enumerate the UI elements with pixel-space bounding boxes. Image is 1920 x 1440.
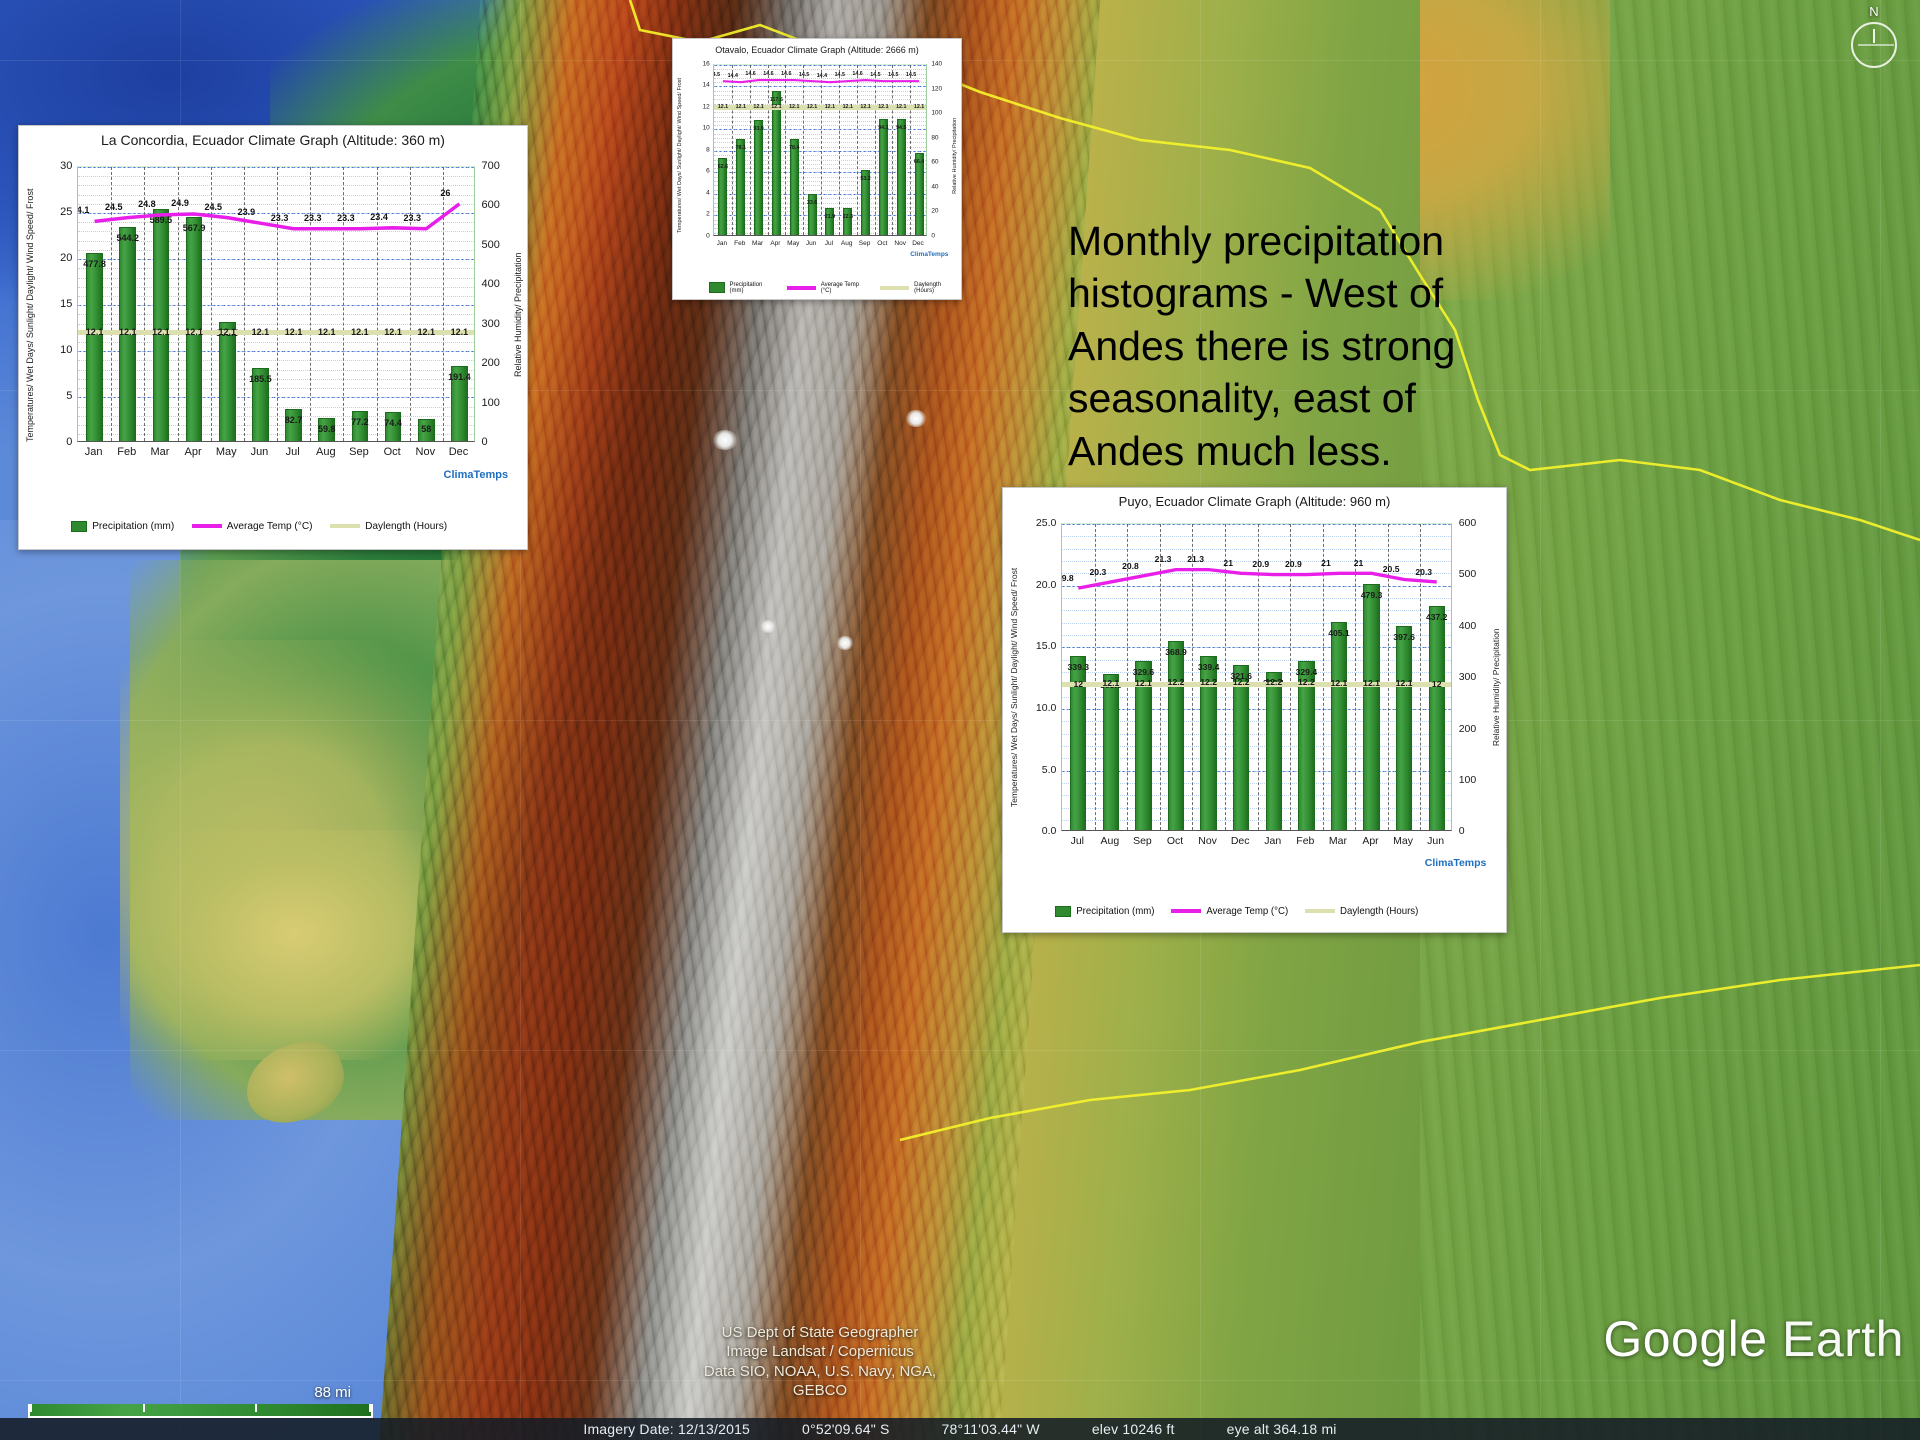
temperature-value-label: 14.5 <box>835 72 845 78</box>
legend-swatch-temp-line-icon <box>787 286 816 290</box>
x-tick-label: Feb <box>731 240 749 247</box>
x-tick-label: Dec <box>442 446 475 458</box>
temperature-value-label: 24.5 <box>105 202 123 212</box>
legend-swatch-daylength-line-icon <box>880 286 909 290</box>
annotation-text: Monthly precipitation histograms - West … <box>1068 215 1498 477</box>
x-tick-label: Aug <box>838 240 856 247</box>
temperature-value-label: 21 <box>1321 558 1331 568</box>
y-axis-label-left: Temperatures/ Wet Days/ Sunlight/ Daylig… <box>1009 523 1019 852</box>
x-tick-label: Nov <box>409 446 442 458</box>
y-tick-label: 20.0 <box>1036 579 1056 591</box>
y-tick-label: 15 <box>60 298 72 310</box>
temperature-value-label: 14.6 <box>852 71 862 77</box>
temperature-value-label: 23.9 <box>238 207 256 217</box>
y2-tick-label: 100 <box>481 397 499 409</box>
temperature-value-label: 19.8 <box>1061 573 1074 583</box>
y2-tick-label: 300 <box>1459 671 1477 683</box>
x-tick-label: Jul <box>820 240 838 247</box>
y2-tick-label: 60 <box>931 159 938 166</box>
x-tick-label: Nov <box>1191 835 1224 847</box>
legend-swatch-bar-icon <box>1055 906 1071 917</box>
y-tick-label: 20 <box>60 252 72 264</box>
compass-widget[interactable]: N <box>1846 4 1902 74</box>
y-axis-ticks-left: 0246810121416 <box>685 64 710 236</box>
x-tick-label: Jun <box>802 240 820 247</box>
legend-label: Precipitation (mm) <box>730 282 777 294</box>
temperature-value-label: 14.5 <box>906 72 916 78</box>
legend-item-daylength[interactable]: Daylength (Hours) <box>880 282 961 294</box>
climatemps-brand: ClimaTemps <box>444 469 509 481</box>
legend-label: Precipitation (mm) <box>92 521 174 532</box>
y-axis-ticks-right: 0100200300400500600700 <box>481 166 513 442</box>
legend-label: Average Temp (°C) <box>821 282 870 294</box>
y2-tick-label: 100 <box>931 110 942 117</box>
legend-label: Daylength (Hours) <box>365 521 447 532</box>
y2-tick-label: 500 <box>481 239 499 251</box>
x-tick-label: Mar <box>749 240 767 247</box>
temperature-value-label: 23.3 <box>403 213 421 223</box>
chart-title: Puyo, Ecuador Climate Graph (Altitude: 9… <box>1003 488 1506 509</box>
y-tick-label: 25 <box>60 206 72 218</box>
attribution-line-3: Data SIO, NOAA, U.S. Navy, NGA, GEBCO <box>680 1362 960 1400</box>
y-axis-ticks-left: 0.05.010.015.020.025.0 <box>1020 523 1056 831</box>
compass-ring-icon <box>1851 22 1897 68</box>
attribution-line-1: US Dept of State Geographer <box>680 1323 960 1342</box>
temperature-value-label: 23.3 <box>337 213 355 223</box>
temperature-value-label: 21 <box>1223 558 1233 568</box>
temperature-value-label: 26 <box>440 188 450 198</box>
google-earth-logo: Google Earth <box>1603 1310 1904 1368</box>
x-tick-label: Jun <box>1419 835 1452 847</box>
status-elevation: elev 10246 ft <box>1092 1421 1175 1437</box>
temperature-value-label: 20.9 <box>1285 559 1302 569</box>
legend-label: Average Temp (°C) <box>227 521 313 532</box>
temperature-value-label: 14.5 <box>799 72 809 78</box>
y-tick-label: 16 <box>703 61 710 68</box>
attribution-line-2: Image Landsat / Copernicus <box>680 1342 960 1361</box>
y-tick-label: 12 <box>703 103 710 110</box>
y-tick-label: 5.0 <box>1042 764 1057 776</box>
x-tick-label: Jun <box>243 446 276 458</box>
plot-area: 62.678.193.9117.678.433.621.922.353.294.… <box>713 64 927 236</box>
temperature-value-label: 21.3 <box>1155 554 1172 564</box>
x-tick-label: Dec <box>909 240 927 247</box>
status-imagery-date: Imagery Date: 12/13/2015 <box>583 1421 750 1437</box>
scale-bar-label: 88 mi <box>314 1384 351 1401</box>
y-axis-label-right: Relative Humidity/ Precipitation <box>952 64 958 248</box>
x-axis-ticks: JulAugSepOctNovDecJanFebMarAprMayJun <box>1061 835 1452 847</box>
y-tick-label: 0 <box>706 232 710 239</box>
x-tick-label: Feb <box>1289 835 1322 847</box>
x-tick-label: Apr <box>177 446 210 458</box>
y-tick-label: 10.0 <box>1036 702 1056 714</box>
status-longitude: 78°11'03.44" W <box>942 1421 1040 1437</box>
legend-swatch-bar-icon <box>71 521 87 532</box>
legend-swatch-temp-line-icon <box>192 524 222 528</box>
y-tick-label: 6 <box>706 168 710 175</box>
x-tick-label: May <box>210 446 243 458</box>
y-axis-label-left: Temperatures/ Wet Days/ Sunlight/ Daylig… <box>677 64 683 248</box>
y2-tick-label: 0 <box>481 436 487 448</box>
y-tick-label: 4 <box>706 189 710 196</box>
temperature-value-label: 23.4 <box>370 212 388 222</box>
legend-swatch-daylength-line-icon <box>1305 909 1335 913</box>
chart-legend: Precipitation (mm)Average Temp (°C)Dayle… <box>709 282 961 294</box>
chart-title: La Concordia, Ecuador Climate Graph (Alt… <box>19 126 527 148</box>
y-axis-label-right: Relative Humidity/ Precipitation <box>1491 523 1501 852</box>
x-tick-label: Apr <box>766 240 784 247</box>
x-tick-label: Jan <box>77 446 110 458</box>
y2-tick-label: 120 <box>931 85 942 92</box>
y2-tick-label: 200 <box>1459 723 1477 735</box>
y-tick-label: 8 <box>706 146 710 153</box>
legend-item-average-temp[interactable]: Average Temp (°C) <box>1171 906 1288 917</box>
y2-tick-label: 400 <box>1459 620 1477 632</box>
map-scale-bar: 88 mi <box>28 1404 373 1418</box>
chart-legend: Precipitation (mm)Average Temp (°C)Dayle… <box>71 521 447 532</box>
y-axis-label-left: Temperatures/ Wet Days/ Sunlight/ Daylig… <box>25 166 35 464</box>
temperature-value-label: 20.3 <box>1415 567 1432 577</box>
temperature-value-label: 24.5 <box>204 202 222 212</box>
x-tick-label: Oct <box>1159 835 1192 847</box>
legend-label: Daylength (Hours) <box>914 282 961 294</box>
temperature-value-label: 24.9 <box>171 198 189 208</box>
x-tick-label: Oct <box>873 240 891 247</box>
y2-tick-label: 200 <box>481 357 499 369</box>
x-tick-label: Jul <box>276 446 309 458</box>
temperature-value-label: 23.3 <box>271 213 289 223</box>
x-tick-label: Feb <box>110 446 143 458</box>
legend-label: Precipitation (mm) <box>1076 906 1154 917</box>
y2-tick-label: 300 <box>481 318 499 330</box>
temperature-value-label: 20.9 <box>1252 559 1269 569</box>
temperature-value-label: 14.6 <box>763 71 773 77</box>
x-axis-ticks: JanFebMarAprMayJunJulAugSepOctNovDec <box>77 446 475 458</box>
x-tick-label: Oct <box>376 446 409 458</box>
legend-swatch-bar-icon <box>709 282 725 293</box>
temperature-value-label: 14.4 <box>817 73 827 79</box>
legend-swatch-temp-line-icon <box>1171 909 1201 913</box>
x-tick-label: Jul <box>1061 835 1094 847</box>
y-tick-label: 2 <box>706 211 710 218</box>
temperature-value-label: 14.5 <box>713 72 720 78</box>
y-axis-ticks-right: 0100200300400500600 <box>1459 523 1493 831</box>
x-tick-label: May <box>1387 835 1420 847</box>
y-axis-ticks-right: 020406080100120140 <box>931 64 953 236</box>
chart-title: Otavalo, Ecuador Climate Graph (Altitude… <box>673 39 961 55</box>
x-tick-label: May <box>784 240 802 247</box>
legend-item-daylength[interactable]: Daylength (Hours) <box>330 521 447 532</box>
x-tick-label: Sep <box>1126 835 1159 847</box>
plot-area: 339.3303.6329.6368.9339.4321.6308.1329.4… <box>1061 523 1452 831</box>
y2-tick-label: 600 <box>1459 517 1477 529</box>
y-tick-label: 25.0 <box>1036 517 1056 529</box>
legend-label: Daylength (Hours) <box>1340 906 1418 917</box>
temperature-value-label: 23.3 <box>304 213 322 223</box>
temperature-value-label: 21.3 <box>1187 554 1204 564</box>
y-tick-label: 0.0 <box>1042 825 1057 837</box>
temperature-value-label: 14.5 <box>888 72 898 78</box>
status-bar: Imagery Date: 12/13/2015 0°52'09.64" S 7… <box>0 1418 1920 1440</box>
temperature-value-label: 20.5 <box>1383 564 1400 574</box>
x-tick-label: Mar <box>143 446 176 458</box>
legend-item-precipitation[interactable]: Precipitation (mm) <box>71 521 174 532</box>
legend-swatch-daylength-line-icon <box>330 524 360 528</box>
y2-tick-label: 700 <box>481 160 499 172</box>
x-tick-label: Jan <box>713 240 731 247</box>
temperature-value-label: 20.3 <box>1090 567 1107 577</box>
y2-tick-label: 400 <box>481 278 499 290</box>
legend-item-precipitation[interactable]: Precipitation (mm) <box>1055 906 1154 917</box>
temperature-value-label: 20.8 <box>1122 561 1139 571</box>
map-attribution: US Dept of State Geographer Image Landsa… <box>680 1323 960 1400</box>
y-tick-label: 15.0 <box>1036 640 1056 652</box>
temperature-value-label: 24.1 <box>77 205 89 215</box>
y2-tick-label: 140 <box>931 61 942 68</box>
temperature-value-label: 14.4 <box>728 73 738 79</box>
y2-tick-label: 40 <box>931 183 938 190</box>
x-tick-label: Nov <box>891 240 909 247</box>
y-tick-label: 30 <box>60 160 72 172</box>
temperature-value-label: 14.6 <box>781 71 791 77</box>
y-tick-label: 0 <box>66 436 72 448</box>
y2-tick-label: 80 <box>931 134 938 141</box>
chart-card-la-concordia[interactable]: La Concordia, Ecuador Climate Graph (Alt… <box>18 125 528 550</box>
scale-bar-graphic <box>28 1404 373 1418</box>
y2-tick-label: 100 <box>1459 774 1477 786</box>
x-tick-label: Sep <box>856 240 874 247</box>
y2-tick-label: 0 <box>1459 825 1465 837</box>
legend-item-average-temp[interactable]: Average Temp (°C) <box>192 521 313 532</box>
y-tick-label: 5 <box>66 390 72 402</box>
x-tick-label: Jan <box>1256 835 1289 847</box>
logo-google-text: Google <box>1603 1311 1767 1367</box>
climatemps-brand: ClimaTemps <box>910 251 948 258</box>
status-latitude: 0°52'09.64" S <box>802 1421 889 1437</box>
temperature-value-label: 14.6 <box>745 71 755 77</box>
y-tick-label: 14 <box>703 82 710 89</box>
temperature-line-series <box>714 65 927 236</box>
x-tick-label: Mar <box>1322 835 1355 847</box>
legend-item-average-temp[interactable]: Average Temp (°C) <box>787 282 870 294</box>
temperature-value-label: 24.8 <box>138 199 156 209</box>
y-tick-label: 10 <box>60 344 72 356</box>
y-tick-label: 10 <box>703 125 710 132</box>
x-tick-label: Aug <box>309 446 342 458</box>
logo-earth-text: Earth <box>1768 1311 1904 1367</box>
y2-tick-label: 0 <box>931 232 935 239</box>
legend-item-daylength[interactable]: Daylength (Hours) <box>1305 906 1418 917</box>
climatemps-brand: ClimaTemps <box>1425 857 1487 869</box>
temperature-value-label: 14.5 <box>870 72 880 78</box>
y-axis-ticks-left: 051015202530 <box>36 166 72 442</box>
y-axis-label-right: Relative Humidity/ Precipitation <box>513 166 523 464</box>
legend-label: Average Temp (°C) <box>1206 906 1288 917</box>
x-tick-label: Aug <box>1094 835 1127 847</box>
x-tick-label: Sep <box>342 446 375 458</box>
status-eye-altitude: eye alt 364.18 mi <box>1227 1421 1337 1437</box>
y2-tick-label: 600 <box>481 199 499 211</box>
x-tick-label: Dec <box>1224 835 1257 847</box>
x-axis-ticks: JanFebMarAprMayJunJulAugSepOctNovDec <box>713 240 927 247</box>
plot-area: 477.8544.2589.5567.9303.5185.582.759.877… <box>77 166 475 442</box>
y2-tick-label: 20 <box>931 208 938 215</box>
y2-tick-label: 500 <box>1459 568 1477 580</box>
chart-card-otavalo[interactable]: Otavalo, Ecuador Climate Graph (Altitude… <box>672 38 962 300</box>
compass-north-label: N <box>1846 4 1902 19</box>
chart-card-puyo[interactable]: Puyo, Ecuador Climate Graph (Altitude: 9… <box>1002 487 1507 933</box>
x-tick-label: Apr <box>1354 835 1387 847</box>
temperature-value-label: 21 <box>1354 558 1364 568</box>
legend-item-precipitation[interactable]: Precipitation (mm) <box>709 282 776 294</box>
chart-legend: Precipitation (mm)Average Temp (°C)Dayle… <box>1055 906 1418 917</box>
